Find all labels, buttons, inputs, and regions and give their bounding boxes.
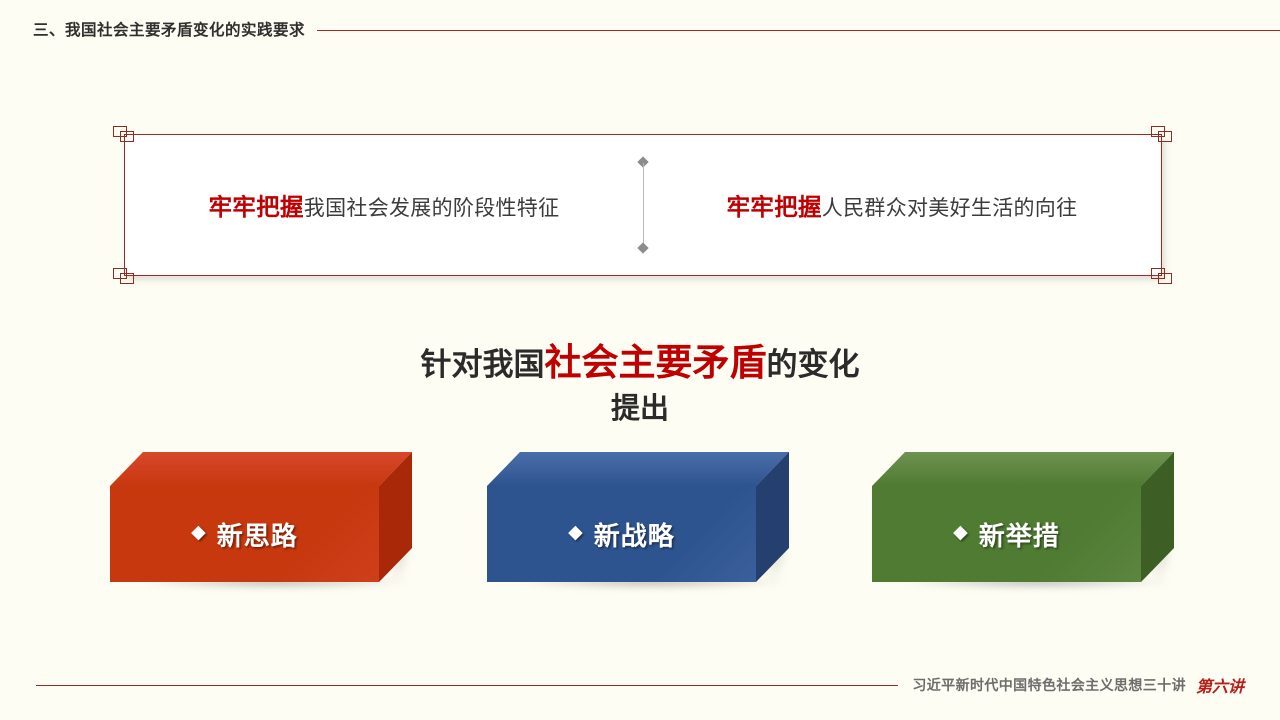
column-divider	[638, 158, 649, 252]
table-cell-right-body: 人民群众对美好生活的向往	[822, 197, 1078, 220]
box-label: ◆ 新举措	[872, 486, 1141, 582]
middle-heading-prefix: 针对我国	[421, 347, 545, 382]
box-top-face	[110, 452, 412, 486]
middle-heading-line2: 提出	[0, 392, 1280, 427]
box-label: ◆ 新思路	[110, 486, 379, 582]
divider-line	[643, 163, 645, 247]
table-cell-left-text: 牢牢把握我国社会发展的阶段性特征	[209, 188, 560, 222]
table-cell-right-text: 牢牢把握人民群众对美好生活的向往	[727, 188, 1078, 222]
page-title: 三、我国社会主要矛盾变化的实践要求	[33, 18, 305, 40]
box-new-战略[interactable]: ◆ 新战略	[487, 452, 792, 592]
middle-heading-suffix: 的变化	[767, 347, 860, 382]
box-new-举措[interactable]: ◆ 新举措	[872, 452, 1177, 592]
box-group: ◆ 新思路 ◆ 新战略 ◆ 新举措	[0, 452, 1280, 612]
slide-header: 三、我国社会主要矛盾变化的实践要求	[0, 0, 1280, 58]
header-divider-line	[317, 30, 1280, 31]
table-cell-left[interactable]: 牢牢把握我国社会发展的阶段性特征	[125, 135, 643, 275]
footer-series-title: 习近平新时代中国特色社会主义思想三十讲	[912, 675, 1186, 695]
box-top-face	[487, 452, 789, 486]
diamond-bullet-icon: ◆	[953, 521, 969, 544]
box-label-text: 新举措	[979, 516, 1060, 553]
box-label-text: 新战略	[594, 516, 675, 553]
table-cell-left-body: 我国社会发展的阶段性特征	[304, 197, 560, 220]
table-cell-left-highlight: 牢牢把握	[209, 194, 304, 220]
selection-handle-bottom-left[interactable]	[113, 268, 135, 284]
selection-handle-top-right[interactable]	[1151, 126, 1173, 142]
table-cell-right-highlight: 牢牢把握	[727, 194, 822, 220]
box-top-face	[872, 452, 1174, 486]
diamond-bullet-icon: ◆	[191, 521, 207, 544]
box-new-思路[interactable]: ◆ 新思路	[110, 452, 415, 592]
box-label-text: 新思路	[217, 516, 298, 553]
middle-heading: 针对我国社会主要矛盾的变化 提出	[0, 340, 1280, 428]
selection-handle-bottom-right[interactable]	[1151, 268, 1173, 284]
selected-table[interactable]: 牢牢把握我国社会发展的阶段性特征 牢牢把握人民群众对美好生活的向往	[124, 134, 1162, 276]
diamond-bullet-icon: ◆	[568, 521, 584, 544]
selection-handle-top-left[interactable]	[113, 126, 135, 142]
slide-footer: 习近平新时代中国特色社会主义思想三十讲 第六讲	[0, 670, 1280, 700]
footer-chapter-label: 第六讲	[1196, 673, 1244, 697]
middle-heading-line1: 针对我国社会主要矛盾的变化	[0, 340, 1280, 385]
footer-divider-line	[36, 685, 898, 686]
box-label: ◆ 新战略	[487, 486, 756, 582]
table-cell-right[interactable]: 牢牢把握人民群众对美好生活的向往	[643, 135, 1161, 275]
diamond-icon	[637, 242, 648, 253]
middle-heading-highlight: 社会主要矛盾	[545, 342, 767, 383]
